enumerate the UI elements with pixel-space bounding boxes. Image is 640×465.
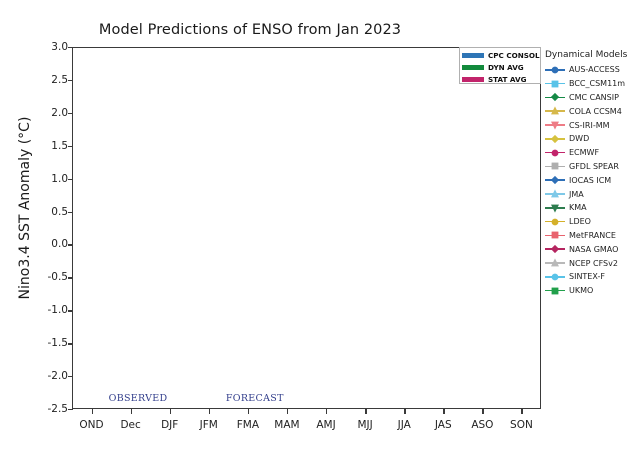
legend-symbol-triangle-down-icon <box>545 119 565 131</box>
y-tick-mark <box>68 212 73 213</box>
model-legend-item[interactable]: IOCAS ICM <box>545 173 640 187</box>
legend-marker <box>545 91 565 103</box>
model-legend: Dynamical Models AUS-ACCESSBCC_CSM11mCMC… <box>545 50 640 298</box>
legend-symbol-circle-icon <box>545 216 565 228</box>
y-tick-mark <box>68 343 73 344</box>
y-tick-label: -1.0 <box>34 304 68 316</box>
y-axis: 3.02.52.01.51.00.50.0-0.5-1.0-1.5-2.0-2.… <box>28 47 68 409</box>
model-legend-item[interactable]: AUS-ACCESS <box>545 63 640 77</box>
model-legend-item[interactable]: LDEO <box>545 215 640 229</box>
legend-item[interactable]: STAT AVG <box>462 74 540 85</box>
legend-symbol-square-icon <box>545 78 565 90</box>
y-tick-label: 3.0 <box>34 41 68 53</box>
y-axis-title: Nino3.4 SST Anomaly (°C) <box>17 38 33 378</box>
y-tick-mark <box>68 146 73 147</box>
legend-label: DYN AVG <box>488 63 524 72</box>
model-legend-label: DWD <box>569 134 589 143</box>
legend-color-swatch <box>462 53 484 58</box>
model-legend-label: CS-IRI-MM <box>569 121 610 130</box>
data-point-marker <box>551 177 558 184</box>
model-legend-item[interactable]: ECMWF <box>545 146 640 160</box>
x-tick-mark <box>365 409 366 414</box>
model-legend-label: JMA <box>569 190 584 199</box>
y-tick-label: 0.0 <box>34 238 68 250</box>
data-point-marker <box>552 274 558 280</box>
data-point-marker <box>552 219 558 225</box>
y-tick-label: -2.5 <box>34 403 68 415</box>
legend-symbol-square-icon <box>545 285 565 297</box>
model-legend-label: MetFRANCE <box>569 231 616 240</box>
model-legend-label: ECMWF <box>569 148 599 157</box>
legend-symbol-diamond-icon <box>545 91 565 103</box>
legend-symbol-diamond-icon <box>545 174 565 186</box>
model-legend-label: SINTEX-F <box>569 272 605 281</box>
model-legend-label: AUS-ACCESS <box>569 65 620 74</box>
model-legend-label: BCC_CSM11m <box>569 79 625 88</box>
x-tick-mark <box>326 409 327 414</box>
legend-marker <box>545 257 565 269</box>
data-point-marker <box>552 232 558 238</box>
y-tick-mark <box>68 277 73 278</box>
legend-marker <box>545 133 565 145</box>
x-tick-mark <box>248 409 249 414</box>
model-legend-item[interactable]: JMA <box>545 187 640 201</box>
y-tick-mark <box>68 310 73 311</box>
model-legend-item[interactable]: COLA CCSM4 <box>545 104 640 118</box>
legend-symbol-diamond-icon <box>545 133 565 145</box>
x-tick-mark <box>287 409 288 414</box>
data-point-marker <box>552 67 558 73</box>
data-point-marker <box>552 288 558 294</box>
model-legend-label: UKMO <box>569 286 593 295</box>
model-legend-label: CMC CANSIP <box>569 93 619 102</box>
legend-color-swatch <box>462 77 484 82</box>
legend-marker <box>545 243 565 255</box>
legend-marker <box>545 188 565 200</box>
legend-marker <box>545 119 565 131</box>
legend-symbol-triangle-up-icon <box>545 257 565 269</box>
legend-symbol-triangle-down-icon <box>545 202 565 214</box>
data-point-marker <box>552 81 558 87</box>
legend-symbol-circle-icon <box>545 64 565 76</box>
legend-symbol-triangle-up-icon <box>545 188 565 200</box>
consolidated-legend: CPC CONSOLDYN AVGSTAT AVG <box>459 47 541 84</box>
model-legend-item[interactable]: UKMO <box>545 284 640 298</box>
data-point-marker <box>552 150 558 156</box>
model-legend-label: KMA <box>569 203 587 212</box>
y-tick-mark <box>68 47 73 48</box>
x-tick-mark <box>170 409 171 414</box>
legend-marker <box>545 229 565 241</box>
legend-symbol-triangle-up-icon <box>545 105 565 117</box>
x-tick-mark <box>521 409 522 414</box>
legend-marker <box>545 285 565 297</box>
y-tick-label: 1.5 <box>34 140 68 152</box>
data-point-marker <box>552 190 559 197</box>
data-point-marker <box>551 135 558 142</box>
x-tick-mark <box>443 409 444 414</box>
legend-symbol-square-icon <box>545 160 565 172</box>
legend-label: STAT AVG <box>488 75 526 84</box>
legend-symbol-circle-icon <box>545 271 565 283</box>
data-point-marker <box>551 246 558 253</box>
y-tick-label: 2.5 <box>34 74 68 86</box>
model-legend-label: LDEO <box>569 217 591 226</box>
model-legend-item[interactable]: BCC_CSM11m <box>545 77 640 91</box>
model-legend-label: COLA CCSM4 <box>569 107 622 116</box>
legend-marker <box>545 202 565 214</box>
model-legend-item[interactable]: CS-IRI-MM <box>545 118 640 132</box>
y-tick-label: -0.5 <box>34 271 68 283</box>
data-point-marker <box>552 205 559 212</box>
x-tick-mark <box>209 409 210 414</box>
legend-marker <box>545 64 565 76</box>
y-tick-label: 1.0 <box>34 173 68 185</box>
legend-marker <box>545 105 565 117</box>
legend-marker <box>545 271 565 283</box>
model-legend-title: Dynamical Models <box>545 50 640 60</box>
y-tick-label: -1.5 <box>34 337 68 349</box>
model-legend-item[interactable]: CMC CANSIP <box>545 91 640 105</box>
plot-area <box>72 47 541 409</box>
model-legend-item[interactable]: GFDL SPEAR <box>545 160 640 174</box>
model-legend-label: IOCAS ICM <box>569 176 611 185</box>
data-point-marker <box>552 122 559 129</box>
data-point-marker <box>551 94 558 101</box>
model-legend-rows: AUS-ACCESSBCC_CSM11mCMC CANSIPCOLA CCSM4… <box>545 63 640 298</box>
legend-marker <box>545 147 565 159</box>
model-legend-item[interactable]: MetFRANCE <box>545 229 640 243</box>
legend-symbol-diamond-icon <box>545 243 565 255</box>
y-tick-mark <box>68 179 73 180</box>
y-tick-mark <box>68 113 73 114</box>
model-legend-item[interactable]: NCEP CFSv2 <box>545 256 640 270</box>
legend-marker <box>545 216 565 228</box>
model-legend-label: NASA GMAO <box>569 245 618 254</box>
legend-marker <box>545 174 565 186</box>
model-legend-label: GFDL SPEAR <box>569 162 619 171</box>
legend-symbol-circle-icon <box>545 147 565 159</box>
x-axis: ONDDecDJFJFMFMAMAMAMJMJJJJAJASASOSON <box>72 409 541 439</box>
data-point-marker <box>552 107 559 114</box>
y-tick-mark <box>68 244 73 245</box>
legend-symbol-square-icon <box>545 229 565 241</box>
legend-color-swatch <box>462 65 484 70</box>
phase-annotation: OBSERVED <box>109 393 168 404</box>
y-tick-mark <box>68 80 73 81</box>
legend-marker <box>545 78 565 90</box>
legend-item[interactable]: DYN AVG <box>462 62 540 73</box>
y-tick-label: 0.5 <box>34 206 68 218</box>
x-tick-mark <box>404 409 405 414</box>
y-tick-mark <box>68 376 73 377</box>
model-legend-label: NCEP CFSv2 <box>569 259 618 268</box>
model-legend-item[interactable]: DWD <box>545 132 640 146</box>
model-legend-item[interactable]: NASA GMAO <box>545 242 640 256</box>
x-tick-label: SON <box>491 419 551 431</box>
legend-item[interactable]: CPC CONSOL <box>462 50 540 61</box>
x-tick-mark <box>131 409 132 414</box>
y-tick-label: 2.0 <box>34 107 68 119</box>
data-point-marker <box>552 259 559 266</box>
enso-forecast-chart: Model Predictions of ENSO from Jan 2023 … <box>0 0 640 465</box>
legend-label: CPC CONSOL <box>488 51 540 60</box>
y-tick-label: -2.0 <box>34 370 68 382</box>
data-point-marker <box>552 163 558 169</box>
phase-annotation: FORECAST <box>226 393 284 404</box>
model-legend-item[interactable]: KMA <box>545 201 640 215</box>
legend-marker <box>545 160 565 172</box>
x-tick-mark <box>482 409 483 414</box>
model-legend-item[interactable]: SINTEX-F <box>545 270 640 284</box>
x-tick-mark <box>92 409 93 414</box>
